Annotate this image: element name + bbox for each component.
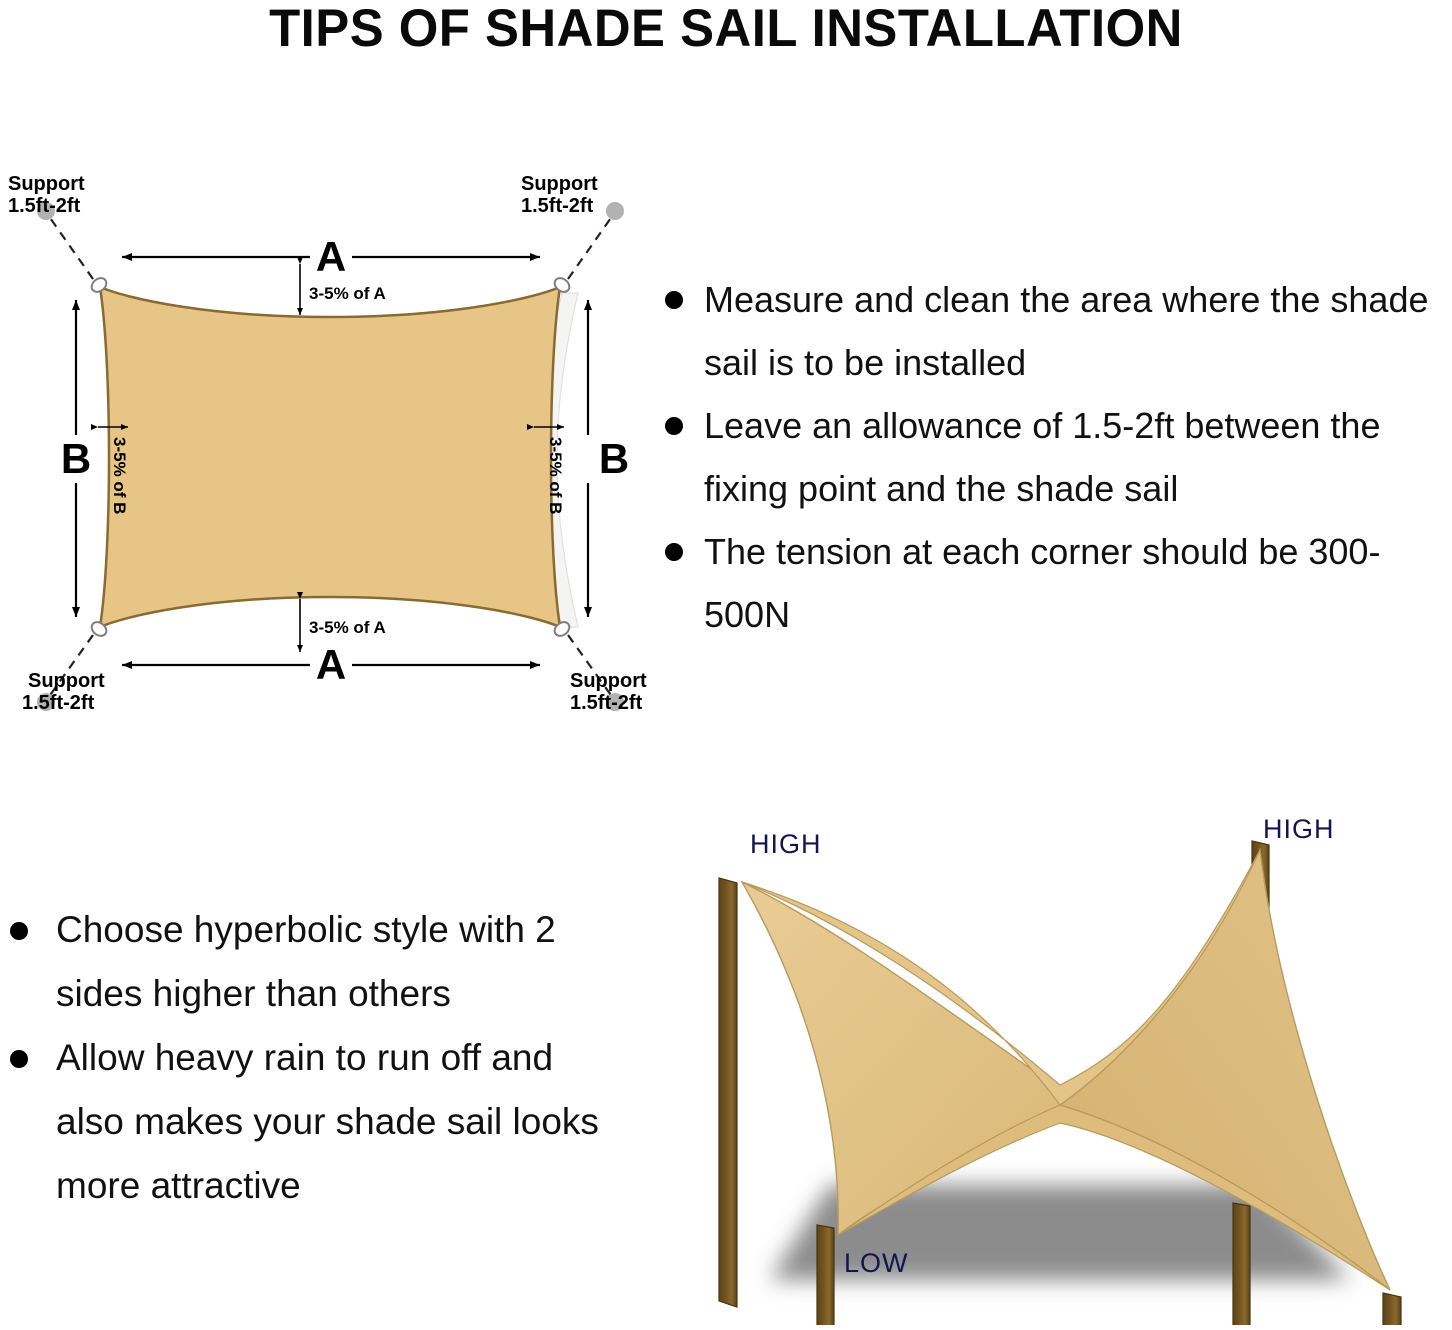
rect-sail-svg: Support 1.5ft-2ft Support 1.5ft-2ft Supp… xyxy=(0,165,660,735)
pole-left-low xyxy=(817,1225,834,1325)
list-item: Choose hyperbolic style with 2 sides hig… xyxy=(2,898,622,1026)
tip-text: Leave an allowance of 1.5-2ft between th… xyxy=(704,405,1380,509)
sail-lobe-left xyxy=(742,882,1080,1235)
dash-top-left xyxy=(48,215,93,279)
pole-right-center-low xyxy=(1233,1203,1250,1325)
hyperbolic-sail-svg: HIGH HIGH LOW LOW xyxy=(660,785,1452,1325)
rect-sail-diagram: Support 1.5ft-2ft Support 1.5ft-2ft Supp… xyxy=(0,165,660,735)
bullet-dot-icon xyxy=(665,543,683,561)
tip-text: Allow heavy rain to run off and also mak… xyxy=(56,1037,599,1206)
label-low-left: LOW xyxy=(844,1248,909,1278)
tips-list-top: Measure and clean the area where the sha… xyxy=(648,268,1452,646)
dim-a-bottom-label: A xyxy=(316,641,346,688)
curve-a-top-label: 3-5% of A xyxy=(309,284,386,303)
support-dot-top-right xyxy=(606,202,624,220)
list-item: Allow heavy rain to run off and also mak… xyxy=(2,1026,622,1218)
bullet-dot-icon xyxy=(10,922,28,940)
list-item: Leave an allowance of 1.5-2ft between th… xyxy=(648,394,1452,520)
support-label-bottom-left-line2: 1.5ft-2ft xyxy=(22,692,95,714)
dim-b-left-label: B xyxy=(61,435,91,482)
bullet-dot-icon xyxy=(10,1050,28,1068)
support-label-bottom-right-line1: Support xyxy=(570,670,647,692)
support-label-bottom-left-line1: Support xyxy=(28,670,105,692)
curve-b-right-label: 3-5% of B xyxy=(546,437,565,514)
hyperbolic-sail-diagram: HIGH HIGH LOW LOW xyxy=(660,785,1452,1325)
support-label-top-left-line2: 1.5ft-2ft xyxy=(8,195,81,217)
label-high-right: HIGH xyxy=(1263,814,1335,844)
bullet-dot-icon xyxy=(665,417,683,435)
tips-list-bottom: Choose hyperbolic style with 2 sides hig… xyxy=(2,898,622,1218)
curve-b-left-label: 3-5% of B xyxy=(110,437,129,514)
tip-text: The tension at each corner should be 300… xyxy=(704,531,1380,635)
pole-right-low xyxy=(1383,1293,1401,1325)
bullet-dot-icon xyxy=(665,291,683,309)
page-title: TIPS OF SHADE SAIL INSTALLATION xyxy=(29,0,1423,60)
dim-a-top-label: A xyxy=(316,233,346,280)
dim-b-right-label: B xyxy=(599,435,629,482)
pole-left-high xyxy=(719,878,737,1307)
dash-top-right xyxy=(568,215,613,279)
sail-body xyxy=(100,287,560,627)
support-label-top-right-line2: 1.5ft-2ft xyxy=(521,195,594,217)
list-item: Measure and clean the area where the sha… xyxy=(648,268,1452,394)
label-high-left: HIGH xyxy=(750,829,822,859)
support-label-bottom-right-line2: 1.5ft-2ft xyxy=(570,692,643,714)
support-label-top-left-line1: Support xyxy=(8,173,85,195)
curve-a-bottom-label: 3-5% of A xyxy=(309,618,386,637)
tip-text: Choose hyperbolic style with 2 sides hig… xyxy=(56,909,556,1014)
support-label-top-right-line1: Support xyxy=(521,173,598,195)
tip-text: Measure and clean the area where the sha… xyxy=(704,279,1428,383)
list-item: The tension at each corner should be 300… xyxy=(648,520,1452,646)
